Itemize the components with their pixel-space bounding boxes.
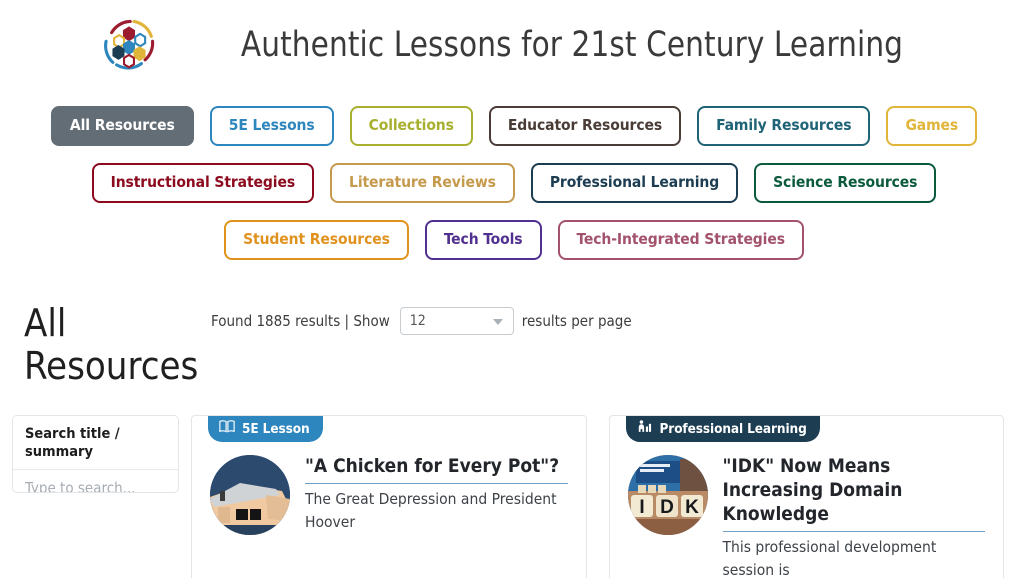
filter-pill-row: Student ResourcesTech ToolsTech-Integrat… xyxy=(0,220,1028,260)
results-card-list: 5E Lesson"A Chicken for Every Pot"?The G… xyxy=(191,415,1004,578)
card-type-badge: 5E Lesson xyxy=(208,415,323,442)
svg-text:D: D xyxy=(660,497,674,518)
page-title: All Resources xyxy=(24,302,199,389)
card-text: "IDK" Now Means Increasing Domain Knowle… xyxy=(723,455,986,578)
resource-card[interactable]: 5E Lesson"A Chicken for Every Pot"?The G… xyxy=(191,415,587,578)
house-photo-thumbnail[interactable] xyxy=(210,455,290,535)
results-count-label: Found 1885 results | Show xyxy=(211,312,390,330)
card-badge-label: Professional Learning xyxy=(660,421,807,437)
filter-pill-instructional-strategies[interactable]: Instructional Strategies xyxy=(92,163,314,203)
results-bar: Found 1885 results | Show 12 results per… xyxy=(211,307,632,335)
page-root: Authentic Lessons for 21st Century Learn… xyxy=(0,0,1028,578)
resource-card[interactable]: Professional LearningIDK"IDK" Now Means … xyxy=(609,415,1005,578)
svg-text:I: I xyxy=(639,497,644,518)
svg-text:K: K xyxy=(685,497,699,518)
site-logo[interactable] xyxy=(98,14,160,76)
presenter-chart-icon xyxy=(637,419,653,438)
site-title: Authentic Lessons for 21st Century Learn… xyxy=(185,25,960,65)
filter-pill-games[interactable]: Games xyxy=(886,106,977,146)
card-badge-label: 5E Lesson xyxy=(242,421,310,437)
filter-pill-tech-tools[interactable]: Tech Tools xyxy=(425,220,542,260)
filter-pill-educator-resources[interactable]: Educator Resources xyxy=(489,106,681,146)
search-input[interactable] xyxy=(13,470,178,493)
filter-pill-collections[interactable]: Collections xyxy=(350,106,473,146)
filter-pill-group: All Resources5E LessonsCollectionsEducat… xyxy=(0,90,1028,260)
facet-search-panel: Search title / summary xyxy=(12,415,179,493)
card-summary: This professional development session is xyxy=(723,536,986,578)
card-body: "A Chicken for Every Pot"?The Great Depr… xyxy=(210,442,568,535)
filter-pill-row: All Resources5E LessonsCollectionsEducat… xyxy=(0,106,1028,146)
filter-pill-5e-lessons[interactable]: 5E Lessons xyxy=(210,106,334,146)
chevron-down-icon xyxy=(493,319,503,325)
site-header: Authentic Lessons for 21st Century Learn… xyxy=(0,0,1028,90)
card-type-badge: Professional Learning xyxy=(626,415,820,442)
card-title-link[interactable]: "IDK" Now Means Increasing Domain Knowle… xyxy=(723,455,986,532)
filter-pill-row: Instructional StrategiesLiterature Revie… xyxy=(0,163,1028,203)
card-text: "A Chicken for Every Pot"?The Great Depr… xyxy=(305,455,568,535)
content-row: Search title / summary 5E Lesson"A Chick… xyxy=(0,415,1028,578)
per-page-value: 12 xyxy=(410,313,426,329)
per-page-suffix-label: results per page xyxy=(522,312,632,330)
filter-pill-all-resources[interactable]: All Resources xyxy=(51,106,194,146)
filter-pill-student-resources[interactable]: Student Resources xyxy=(224,220,409,260)
hexagon-cluster-logo-icon xyxy=(98,14,160,76)
open-book-icon xyxy=(219,419,235,438)
card-body: IDK"IDK" Now Means Increasing Domain Kno… xyxy=(628,442,986,578)
filter-pill-family-resources[interactable]: Family Resources xyxy=(697,106,870,146)
filter-pill-literature-reviews[interactable]: Literature Reviews xyxy=(330,163,515,203)
filter-pill-professional-learning[interactable]: Professional Learning xyxy=(531,163,738,203)
card-summary: The Great Depression and President Hoove… xyxy=(305,488,568,535)
card-title-link[interactable]: "A Chicken for Every Pot"? xyxy=(305,455,568,484)
idk-blocks-photo-thumbnail[interactable]: IDK xyxy=(628,455,708,535)
facet-title: Search title / summary xyxy=(13,416,178,470)
filter-pill-science-resources[interactable]: Science Resources xyxy=(754,163,936,203)
filter-pill-tech-integrated-strategies[interactable]: Tech-Integrated Strategies xyxy=(558,220,804,260)
per-page-select[interactable]: 12 xyxy=(400,307,514,335)
